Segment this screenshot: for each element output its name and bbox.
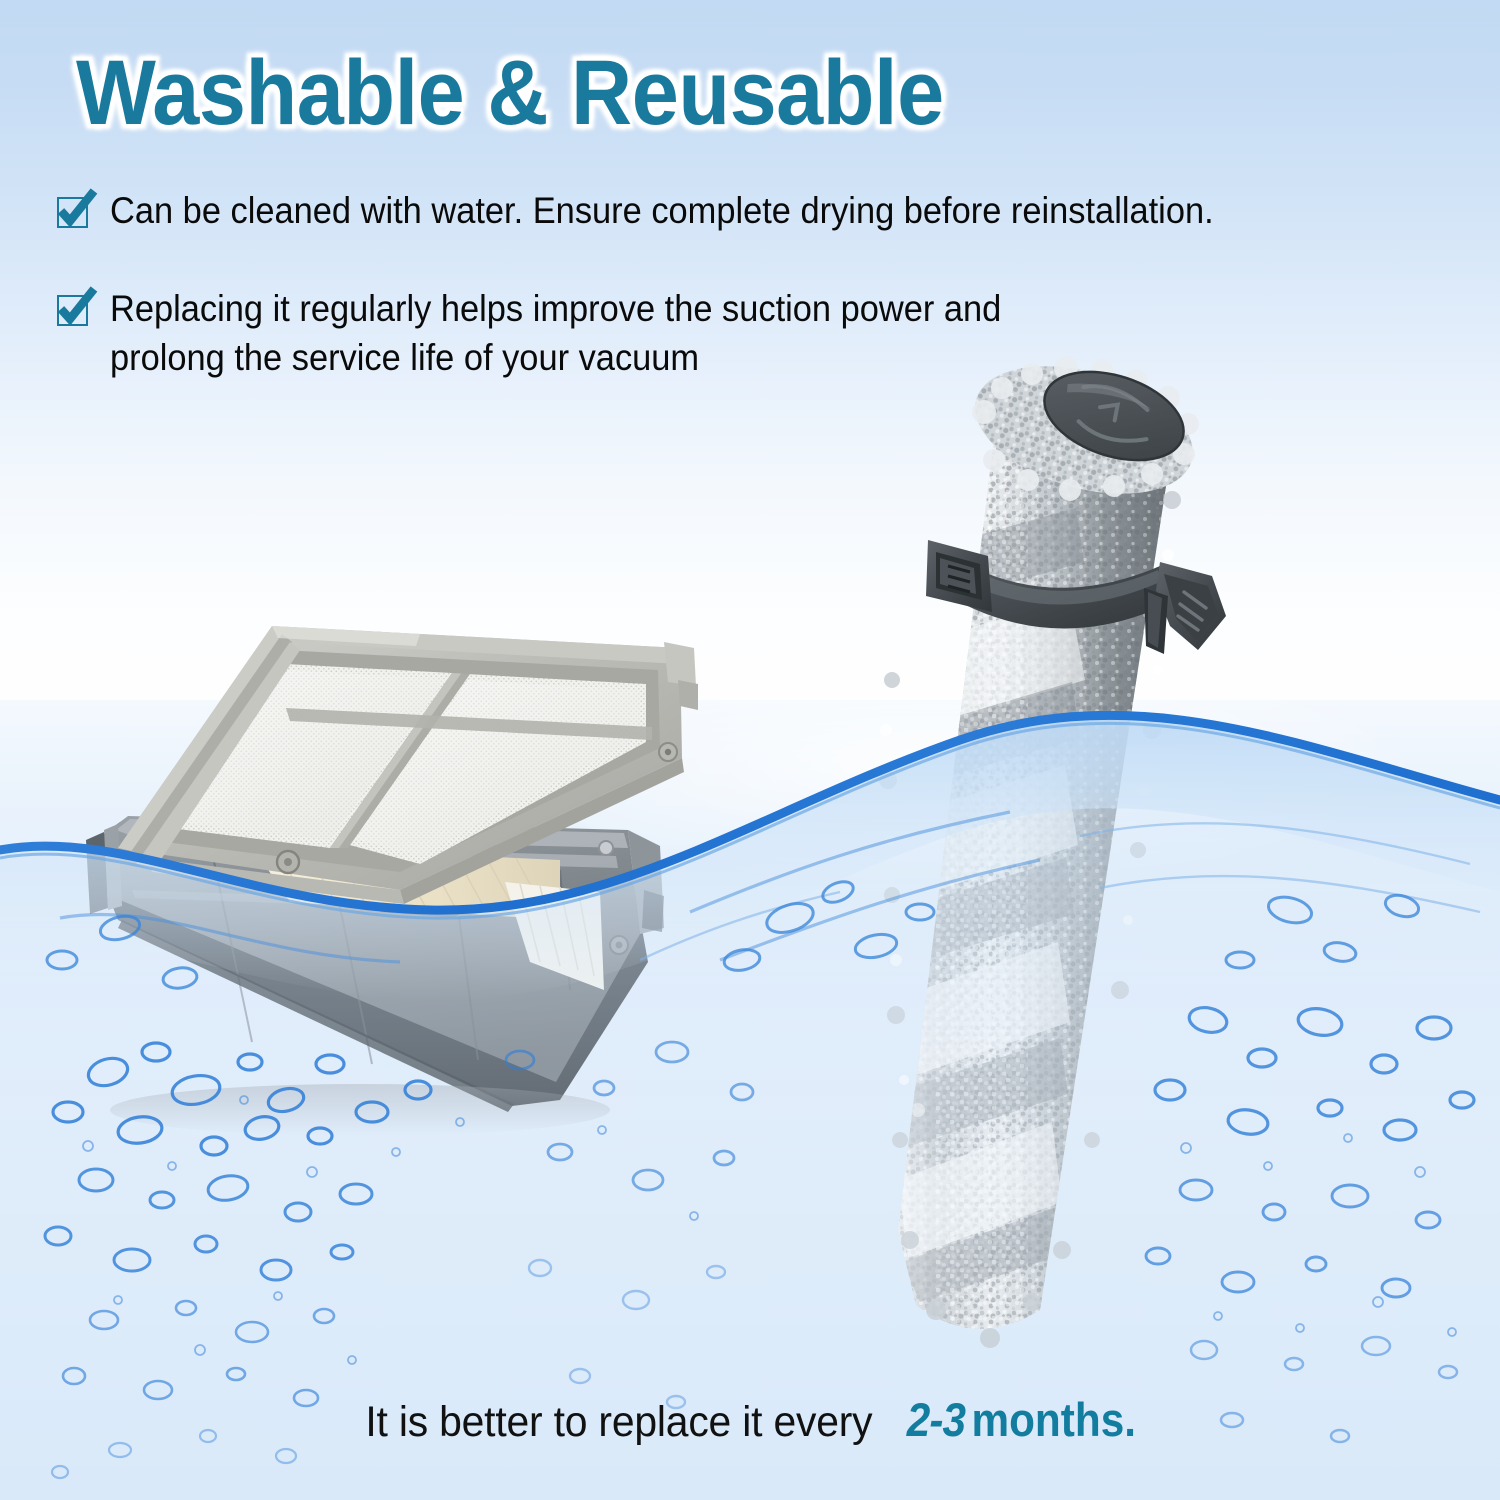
water-surface-waterline <box>0 660 1500 1500</box>
feature-bullet-list: Can be cleaned with water. Ensure comple… <box>55 186 1455 382</box>
checkmark-glyph <box>54 285 98 329</box>
check-square-icon <box>55 291 91 327</box>
list-item-label: Can be cleaned with water. Ensure comple… <box>110 186 1214 235</box>
replacement-interval-caption: It is better to replace it every 2-3mont… <box>0 1392 1500 1447</box>
interval-unit: months. <box>971 1393 1136 1446</box>
caption-highlight: 2-3months. <box>906 1392 1135 1447</box>
checkmark-glyph <box>54 187 98 231</box>
list-item: Can be cleaned with water. Ensure comple… <box>55 186 1455 235</box>
list-item-label: Replacing it regularly helps improve the… <box>110 284 1001 382</box>
feature-graphic-canvas: Washable & Reusable Can be cleaned with … <box>0 0 1500 1500</box>
caption-lead-text: It is better to replace it every <box>365 1398 872 1447</box>
interval-number: 2-3 <box>906 1393 964 1446</box>
page-title: Washable & Reusable <box>76 47 944 139</box>
check-square-icon <box>55 193 91 229</box>
list-item: Replacing it regularly helps improve the… <box>55 284 1455 382</box>
